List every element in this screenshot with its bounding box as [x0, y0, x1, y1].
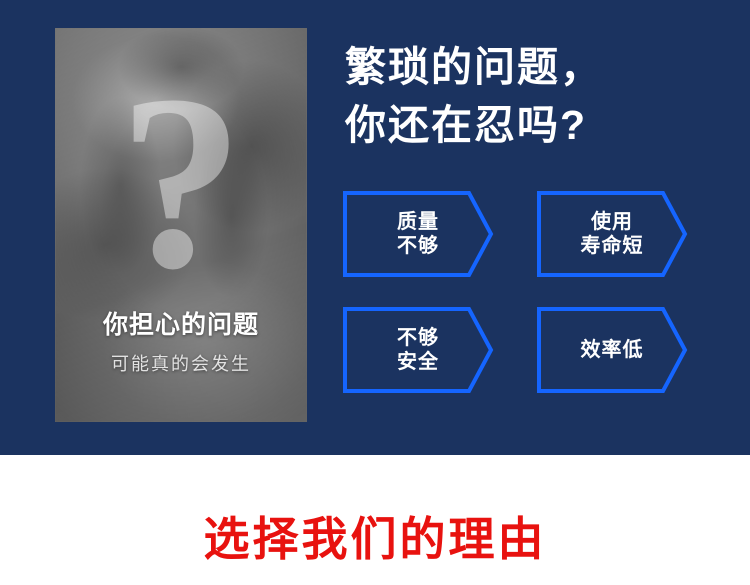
- headline-line-2: 你还在忍吗?: [345, 96, 735, 154]
- badge-label: 效率低: [581, 338, 644, 362]
- photo-caption-line2: 可能真的会发生: [55, 350, 307, 376]
- badge-row-2: 不够 安全 效率低: [342, 306, 742, 394]
- badge-lifespan: 使用 寿命短: [536, 190, 688, 278]
- hero-section: ? 你担心的问题 可能真的会发生 繁琐的问题， 你还在忍吗? 质量 不够: [0, 0, 750, 455]
- badge-label: 质量 不够: [397, 210, 439, 258]
- pain-point-badges: 质量 不够 使用 寿命短 不够 安全: [342, 190, 742, 422]
- photo-caption: 你担心的问题 可能真的会发生: [55, 305, 307, 376]
- badge-quality: 质量 不够: [342, 190, 494, 278]
- bottom-section: 选择我们的理由: [0, 455, 750, 585]
- headline-line-1: 繁琐的问题，: [345, 38, 735, 96]
- bottom-title: 选择我们的理由: [0, 503, 750, 569]
- photo-card: ? 你担心的问题 可能真的会发生: [55, 28, 307, 422]
- badge-label: 不够 安全: [397, 326, 439, 374]
- badge-efficiency: 效率低: [536, 306, 688, 394]
- badge-row-1: 质量 不够 使用 寿命短: [342, 190, 742, 278]
- promo-poster: ? 你担心的问题 可能真的会发生 繁琐的问题， 你还在忍吗? 质量 不够: [0, 0, 750, 585]
- badge-label: 使用 寿命短: [581, 210, 644, 258]
- question-mark-icon: ?: [55, 58, 307, 308]
- photo-caption-line1: 你担心的问题: [55, 305, 307, 341]
- headline: 繁琐的问题， 你还在忍吗?: [345, 38, 735, 154]
- badge-safety: 不够 安全: [342, 306, 494, 394]
